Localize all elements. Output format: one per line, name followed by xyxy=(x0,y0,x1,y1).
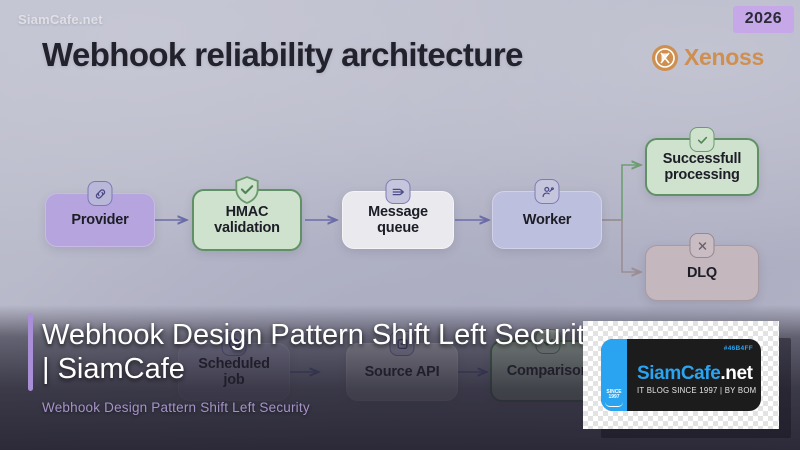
queue-arrow-icon xyxy=(386,179,411,204)
node-dlq[interactable]: DLQ xyxy=(645,245,759,301)
shield-check-icon xyxy=(234,175,261,205)
logo-name-suffix: .net xyxy=(720,363,752,384)
node-worker[interactable]: Worker xyxy=(492,191,602,249)
node-provider[interactable]: Provider xyxy=(45,193,155,247)
worker-icon xyxy=(535,179,560,204)
node-label: DLQ xyxy=(687,265,717,281)
overlay-title: Webhook Design Pattern Shift Left Securi… xyxy=(42,318,602,386)
overlay-accent-bar xyxy=(28,313,33,391)
check-icon xyxy=(690,127,715,152)
wave-icon xyxy=(605,402,623,407)
node-message-queue[interactable]: Messagequeue xyxy=(342,191,454,249)
logo-tagline: IT BLOG SINCE 1997 | BY BOM xyxy=(637,386,756,395)
node-label: Worker xyxy=(523,212,572,228)
node-label: Messagequeue xyxy=(368,204,428,236)
node-label: HMACvalidation xyxy=(214,204,280,236)
logo-name-primary: SiamCafe xyxy=(637,363,720,384)
logo-wordmark: SiamCafe.net xyxy=(637,363,753,385)
overlay-subtitle: Webhook Design Pattern Shift Left Securi… xyxy=(42,400,310,415)
link-icon xyxy=(88,181,113,206)
hex-color-code: #46B4FF xyxy=(724,345,753,352)
node-label: Successfullprocessing xyxy=(663,151,741,183)
node-hmac-validation[interactable]: HMACvalidation xyxy=(192,189,302,251)
siamcafe-logo-card: SINCE 1997 #46B4FF SiamCafe.net IT BLOG … xyxy=(583,321,779,429)
node-successful-processing[interactable]: Successfullprocessing xyxy=(645,138,759,196)
slide-canvas: SiamCafe.net 2026 Xenoss Webhook reliabi… xyxy=(0,0,800,450)
logo-pill: SINCE 1997 #46B4FF SiamCafe.net IT BLOG … xyxy=(601,339,761,411)
node-label: Provider xyxy=(71,212,128,228)
since-badge: SINCE 1997 xyxy=(602,390,626,408)
close-icon xyxy=(690,233,715,258)
since-year: 1997 xyxy=(608,394,619,400)
